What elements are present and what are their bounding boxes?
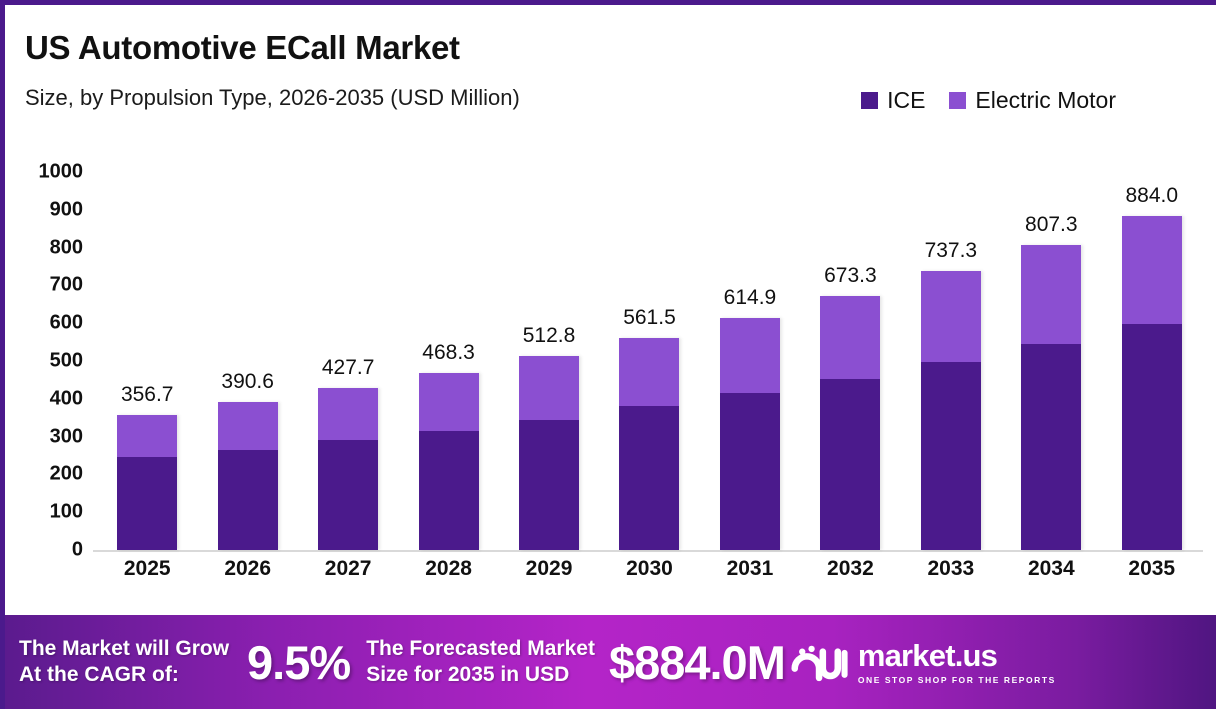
y-axis-tick-700: 700 xyxy=(50,274,83,297)
bar-segment-ice[interactable] xyxy=(820,379,880,550)
bar-segment-ice[interactable] xyxy=(1021,344,1081,550)
y-axis: 10009008007006005004003002001000 xyxy=(5,135,93,555)
forecast-size-label-line2: Size for 2035 in USD xyxy=(366,662,595,688)
bar-segment-ice[interactable] xyxy=(1122,324,1182,550)
bar-segment-electric-motor[interactable] xyxy=(1021,245,1081,344)
stacked-bar[interactable] xyxy=(519,356,579,550)
x-axis-tick-2034: 2034 xyxy=(1007,557,1095,581)
legend-item-electric-motor: Electric Motor xyxy=(949,87,1116,114)
market-us-logo-text: market.us ONE STOP SHOP FOR THE REPORTS xyxy=(858,640,1056,685)
x-axis-tick-2032: 2032 xyxy=(806,557,894,581)
legend-label-electric-motor: Electric Motor xyxy=(975,87,1116,114)
bar-series-container: 356.7390.6427.7468.3512.8561.5614.9673.3… xyxy=(97,135,1202,550)
bar-total-label: 427.7 xyxy=(322,356,375,380)
bar-segment-ice[interactable] xyxy=(720,393,780,550)
stacked-bar[interactable] xyxy=(218,402,278,550)
market-us-logo[interactable]: market.us ONE STOP SHOP FOR THE REPORTS xyxy=(791,640,1056,685)
stacked-bar[interactable] xyxy=(720,318,780,550)
bar-column-2032[interactable]: 673.3 xyxy=(806,135,894,550)
forecast-size-value: $884.0M xyxy=(609,635,785,690)
bar-total-label: 390.6 xyxy=(221,370,274,394)
y-axis-tick-800: 800 xyxy=(50,236,83,259)
bar-total-label: 468.3 xyxy=(422,341,475,365)
bar-total-label: 561.5 xyxy=(623,306,676,330)
y-axis-tick-0: 0 xyxy=(72,539,83,562)
bar-column-2034[interactable]: 807.3 xyxy=(1007,135,1095,550)
bar-total-label: 512.8 xyxy=(523,324,576,348)
stacked-bar[interactable] xyxy=(419,373,479,550)
bar-segment-ice[interactable] xyxy=(921,362,981,550)
forecast-size-label: The Forecasted Market Size for 2035 in U… xyxy=(366,636,595,687)
logo-wordmark: market.us xyxy=(858,640,1056,671)
chart-header: US Automotive ECall Market Size, by Prop… xyxy=(5,5,1216,135)
bar-segment-ice[interactable] xyxy=(519,420,579,550)
bar-segment-electric-motor[interactable] xyxy=(820,296,880,380)
bar-column-2031[interactable]: 614.9 xyxy=(706,135,794,550)
bar-column-2028[interactable]: 468.3 xyxy=(405,135,493,550)
legend-label-ice: ICE xyxy=(887,87,925,114)
x-axis-tick-2029: 2029 xyxy=(505,557,593,581)
x-axis-tick-2027: 2027 xyxy=(304,557,392,581)
bar-column-2035[interactable]: 884.0 xyxy=(1108,135,1196,550)
bar-segment-ice[interactable] xyxy=(218,450,278,550)
bar-segment-electric-motor[interactable] xyxy=(720,318,780,394)
bar-column-2029[interactable]: 512.8 xyxy=(505,135,593,550)
bar-segment-electric-motor[interactable] xyxy=(921,271,981,362)
stacked-bar[interactable] xyxy=(619,338,679,550)
stacked-bar[interactable] xyxy=(117,415,177,550)
x-axis-tick-2035: 2035 xyxy=(1108,557,1196,581)
bar-column-2026[interactable]: 390.6 xyxy=(204,135,292,550)
x-axis: 2025202620272028202920302031203220332034… xyxy=(97,557,1202,597)
x-axis-tick-2030: 2030 xyxy=(605,557,693,581)
bar-total-label: 356.7 xyxy=(121,383,174,407)
x-axis-tick-2033: 2033 xyxy=(907,557,995,581)
bar-total-label: 884.0 xyxy=(1125,184,1178,208)
x-axis-baseline xyxy=(93,550,1203,552)
cagr-label-line2: At the CAGR of: xyxy=(19,662,229,688)
stacked-bar[interactable] xyxy=(1021,245,1081,550)
bar-segment-electric-motor[interactable] xyxy=(117,415,177,457)
stacked-bar[interactable] xyxy=(921,271,981,550)
bar-column-2030[interactable]: 561.5 xyxy=(605,135,693,550)
bar-segment-ice[interactable] xyxy=(318,440,378,550)
x-axis-tick-2031: 2031 xyxy=(706,557,794,581)
bar-column-2027[interactable]: 427.7 xyxy=(304,135,392,550)
legend-item-ice: ICE xyxy=(861,87,925,114)
cagr-label-line1: The Market will Grow xyxy=(19,636,229,662)
bar-column-2033[interactable]: 737.3 xyxy=(907,135,995,550)
market-us-logo-mark-icon xyxy=(791,640,849,684)
bar-segment-ice[interactable] xyxy=(117,457,177,550)
y-axis-tick-200: 200 xyxy=(50,463,83,486)
y-axis-tick-500: 500 xyxy=(50,350,83,373)
stacked-bar[interactable] xyxy=(318,388,378,550)
square-swatch-icon xyxy=(861,92,878,109)
x-axis-tick-2026: 2026 xyxy=(204,557,292,581)
bar-segment-electric-motor[interactable] xyxy=(419,373,479,431)
stacked-bar[interactable] xyxy=(1122,216,1182,550)
square-swatch-icon xyxy=(949,92,966,109)
cagr-value: 9.5% xyxy=(247,635,350,690)
x-axis-tick-2028: 2028 xyxy=(405,557,493,581)
chart-infographic: US Automotive ECall Market Size, by Prop… xyxy=(0,0,1216,709)
y-axis-tick-300: 300 xyxy=(50,425,83,448)
bar-total-label: 614.9 xyxy=(724,286,777,310)
logo-tagline: ONE STOP SHOP FOR THE REPORTS xyxy=(858,675,1056,685)
y-axis-tick-100: 100 xyxy=(50,501,83,524)
bar-segment-electric-motor[interactable] xyxy=(218,402,278,449)
bar-segment-electric-motor[interactable] xyxy=(519,356,579,419)
bar-segment-electric-motor[interactable] xyxy=(619,338,679,407)
stacked-bar[interactable] xyxy=(820,296,880,550)
page-title: US Automotive ECall Market xyxy=(25,29,460,67)
bar-segment-electric-motor[interactable] xyxy=(318,388,378,439)
bar-total-label: 807.3 xyxy=(1025,213,1078,237)
y-axis-tick-400: 400 xyxy=(50,387,83,410)
bar-total-label: 673.3 xyxy=(824,264,877,288)
chart-legend: ICE Electric Motor xyxy=(861,87,1116,114)
bar-column-2025[interactable]: 356.7 xyxy=(103,135,191,550)
y-axis-tick-1000: 1000 xyxy=(39,161,84,184)
y-axis-tick-600: 600 xyxy=(50,312,83,335)
chart-subtitle: Size, by Propulsion Type, 2026-2035 (USD… xyxy=(25,85,520,111)
bar-segment-ice[interactable] xyxy=(619,406,679,550)
bar-total-label: 737.3 xyxy=(925,239,978,263)
bar-segment-electric-motor[interactable] xyxy=(1122,216,1182,324)
cagr-label: The Market will Grow At the CAGR of: xyxy=(19,636,229,687)
chart-plot-area: 10009008007006005004003002001000 356.739… xyxy=(5,135,1216,610)
footer-banner: The Market will Grow At the CAGR of: 9.5… xyxy=(5,615,1216,709)
y-axis-tick-900: 900 xyxy=(50,198,83,221)
forecast-size-label-line1: The Forecasted Market xyxy=(366,636,595,662)
x-axis-tick-2025: 2025 xyxy=(103,557,191,581)
bar-segment-ice[interactable] xyxy=(419,431,479,550)
